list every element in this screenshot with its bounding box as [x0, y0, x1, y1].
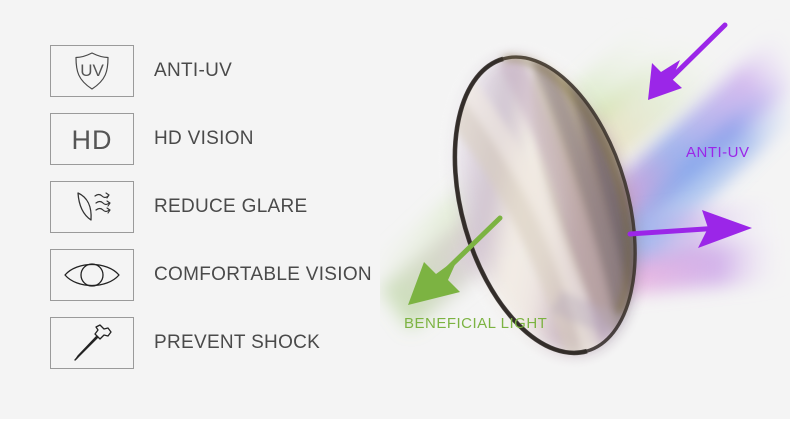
feature-row: PREVENT SHOCK: [50, 316, 380, 370]
hd-text-icon-box: HD: [50, 113, 134, 165]
hd-text-icon: HD: [62, 118, 122, 160]
feature-label: REDUCE GLARE: [154, 196, 308, 218]
hammer-icon: [67, 321, 117, 365]
uv-shield-icon: UV: [65, 49, 119, 93]
hammer-icon-box: [50, 317, 134, 369]
lens-diagram-svg: [380, 0, 790, 420]
coated-lens-light-diagram: [380, 0, 790, 420]
uv-shield-icon-box: UV: [50, 45, 134, 97]
beneficial-light-label: BENEFICIAL LIGHT: [404, 315, 547, 332]
glare-deflect-icon-box: [50, 181, 134, 233]
bottom-strip: [0, 419, 790, 440]
svg-text:HD: HD: [72, 125, 113, 155]
lens-feature-graphic: UV ANTI-UV HD HD VISION: [0, 0, 790, 440]
anti-uv-label: ANTI-UV: [686, 144, 750, 161]
glare-deflect-icon: [65, 186, 119, 228]
feature-label: HD VISION: [154, 128, 254, 150]
feature-row: REDUCE GLARE: [50, 180, 380, 234]
feature-list: UV ANTI-UV HD HD VISION: [50, 44, 380, 384]
feature-row: COMFORTABLE VISION: [50, 248, 380, 302]
svg-text:UV: UV: [80, 61, 104, 80]
feature-row: HD HD VISION: [50, 112, 380, 166]
eye-icon-box: [50, 249, 134, 301]
feature-label: COMFORTABLE VISION: [154, 264, 372, 286]
feature-label: PREVENT SHOCK: [154, 332, 320, 354]
feature-label: ANTI-UV: [154, 60, 232, 82]
feature-row: UV ANTI-UV: [50, 44, 380, 98]
eye-icon: [61, 257, 123, 293]
